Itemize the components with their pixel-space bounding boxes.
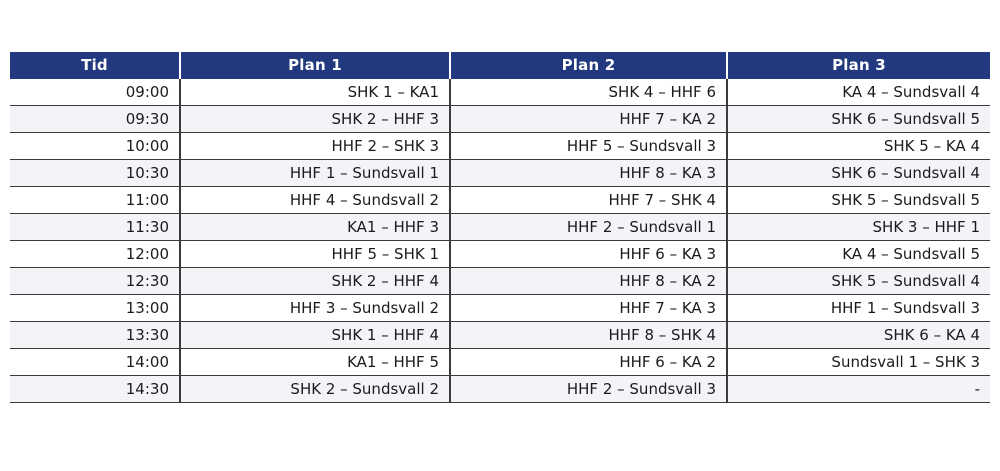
cell-plan-2: HHF 2 – Sundsvall 1	[450, 214, 727, 241]
cell-plan-2: HHF 6 – KA 2	[450, 349, 727, 376]
cell-time: 11:30	[10, 214, 180, 241]
cell-time: 13:00	[10, 295, 180, 322]
cell-plan-3: SHK 6 – KA 4	[727, 322, 990, 349]
table-row: 14:00 KA1 – HHF 5 HHF 6 – KA 2 Sundsvall…	[10, 349, 990, 376]
cell-plan-2: HHF 7 – KA 2	[450, 106, 727, 133]
cell-time: 10:00	[10, 133, 180, 160]
table-row: 13:00 HHF 3 – Sundsvall 2 HHF 7 – KA 3 H…	[10, 295, 990, 322]
table-row: 09:00 SHK 1 – KA1 SHK 4 – HHF 6 KA 4 – S…	[10, 79, 990, 106]
cell-plan-3: KA 4 – Sundsvall 4	[727, 79, 990, 106]
cell-plan-1: HHF 3 – Sundsvall 2	[180, 295, 450, 322]
page-root: Tid Plan 1 Plan 2 Plan 3 09:00 SHK 1 – K…	[0, 0, 1000, 471]
cell-plan-2: HHF 2 – Sundsvall 3	[450, 376, 727, 403]
column-header-tid: Tid	[10, 53, 180, 79]
cell-plan-2: HHF 8 – KA 2	[450, 268, 727, 295]
cell-plan-3: -	[727, 376, 990, 403]
cell-time: 09:30	[10, 106, 180, 133]
cell-plan-1: HHF 2 – SHK 3	[180, 133, 450, 160]
cell-plan-1: HHF 5 – SHK 1	[180, 241, 450, 268]
schedule-table-container: Tid Plan 1 Plan 2 Plan 3 09:00 SHK 1 – K…	[10, 52, 990, 403]
cell-plan-3: SHK 5 – KA 4	[727, 133, 990, 160]
cell-plan-1: KA1 – HHF 3	[180, 214, 450, 241]
cell-plan-1: SHK 2 – Sundsvall 2	[180, 376, 450, 403]
table-header-row: Tid Plan 1 Plan 2 Plan 3	[10, 53, 990, 79]
cell-plan-1: SHK 2 – HHF 3	[180, 106, 450, 133]
cell-plan-1: SHK 1 – HHF 4	[180, 322, 450, 349]
cell-plan-3: HHF 1 – Sundsvall 3	[727, 295, 990, 322]
column-header-plan-1: Plan 1	[180, 53, 450, 79]
cell-time: 10:30	[10, 160, 180, 187]
cell-plan-3: SHK 6 – Sundsvall 4	[727, 160, 990, 187]
cell-time: 14:30	[10, 376, 180, 403]
cell-plan-1: SHK 2 – HHF 4	[180, 268, 450, 295]
table-row: 12:30 SHK 2 – HHF 4 HHF 8 – KA 2 SHK 5 –…	[10, 268, 990, 295]
cell-plan-2: HHF 6 – KA 3	[450, 241, 727, 268]
cell-plan-2: HHF 8 – KA 3	[450, 160, 727, 187]
cell-time: 12:00	[10, 241, 180, 268]
table-row: 12:00 HHF 5 – SHK 1 HHF 6 – KA 3 KA 4 – …	[10, 241, 990, 268]
table-row: 13:30 SHK 1 – HHF 4 HHF 8 – SHK 4 SHK 6 …	[10, 322, 990, 349]
cell-plan-1: HHF 1 – Sundsvall 1	[180, 160, 450, 187]
cell-plan-3: KA 4 – Sundsvall 5	[727, 241, 990, 268]
cell-plan-3: SHK 5 – Sundsvall 5	[727, 187, 990, 214]
cell-plan-2: HHF 7 – SHK 4	[450, 187, 727, 214]
cell-plan-2: SHK 4 – HHF 6	[450, 79, 727, 106]
table-row: 14:30 SHK 2 – Sundsvall 2 HHF 2 – Sundsv…	[10, 376, 990, 403]
cell-plan-3: SHK 3 – HHF 1	[727, 214, 990, 241]
match-schedule-table: Tid Plan 1 Plan 2 Plan 3 09:00 SHK 1 – K…	[10, 52, 990, 403]
table-header: Tid Plan 1 Plan 2 Plan 3	[10, 53, 990, 79]
cell-time: 11:00	[10, 187, 180, 214]
cell-time: 12:30	[10, 268, 180, 295]
table-row: 09:30 SHK 2 – HHF 3 HHF 7 – KA 2 SHK 6 –…	[10, 106, 990, 133]
table-row: 11:00 HHF 4 – Sundsvall 2 HHF 7 – SHK 4 …	[10, 187, 990, 214]
cell-plan-1: HHF 4 – Sundsvall 2	[180, 187, 450, 214]
cell-plan-3: SHK 6 – Sundsvall 5	[727, 106, 990, 133]
cell-time: 09:00	[10, 79, 180, 106]
cell-plan-3: SHK 5 – Sundsvall 4	[727, 268, 990, 295]
cell-time: 14:00	[10, 349, 180, 376]
table-row: 10:30 HHF 1 – Sundsvall 1 HHF 8 – KA 3 S…	[10, 160, 990, 187]
cell-plan-2: HHF 8 – SHK 4	[450, 322, 727, 349]
table-body: 09:00 SHK 1 – KA1 SHK 4 – HHF 6 KA 4 – S…	[10, 79, 990, 403]
cell-time: 13:30	[10, 322, 180, 349]
table-row: 11:30 KA1 – HHF 3 HHF 2 – Sundsvall 1 SH…	[10, 214, 990, 241]
column-header-plan-3: Plan 3	[727, 53, 990, 79]
column-header-plan-2: Plan 2	[450, 53, 727, 79]
cell-plan-2: HHF 7 – KA 3	[450, 295, 727, 322]
cell-plan-1: SHK 1 – KA1	[180, 79, 450, 106]
table-row: 10:00 HHF 2 – SHK 3 HHF 5 – Sundsvall 3 …	[10, 133, 990, 160]
cell-plan-3: Sundsvall 1 – SHK 3	[727, 349, 990, 376]
cell-plan-2: HHF 5 – Sundsvall 3	[450, 133, 727, 160]
cell-plan-1: KA1 – HHF 5	[180, 349, 450, 376]
